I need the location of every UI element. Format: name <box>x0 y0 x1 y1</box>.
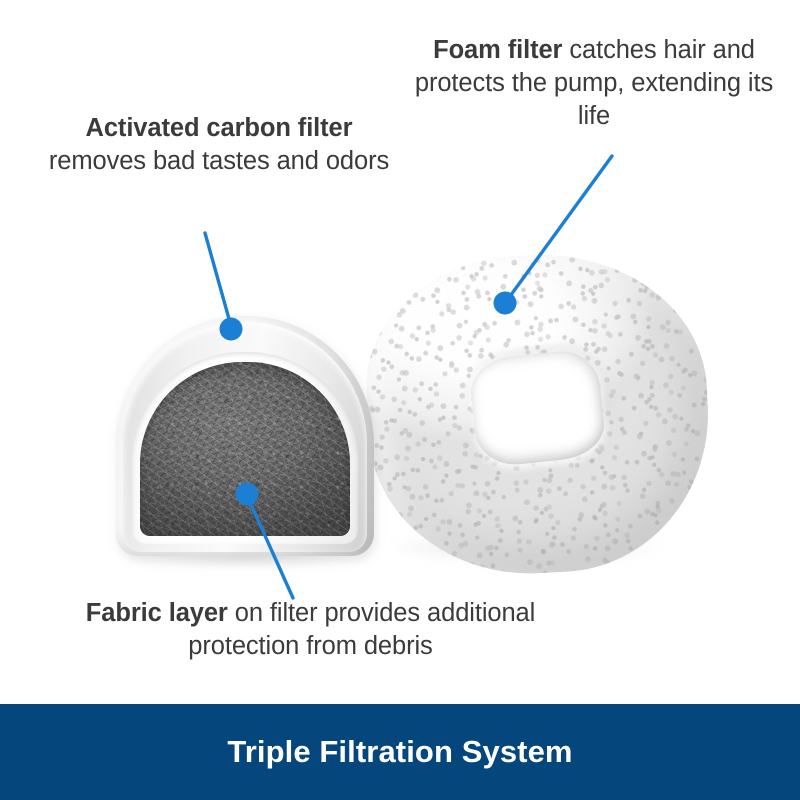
bottom-banner: Triple Filtration System <box>0 704 800 800</box>
carbon-filter-core <box>140 362 350 536</box>
callout-foam-filter: Foam filter catches hair and protects th… <box>404 34 784 133</box>
infographic-canvas: Activated carbon filter removes bad tast… <box>0 0 800 800</box>
foam-filter-center-hole <box>468 347 608 468</box>
banner-title: Triple Filtration System <box>227 734 572 770</box>
callout-fabric-lead: Fabric layer <box>86 599 228 627</box>
foam-filter-image <box>368 255 708 573</box>
product-image-area <box>0 230 800 590</box>
callout-carbon-lead: Activated carbon filter <box>86 114 353 142</box>
callout-activated-carbon-filter: Activated carbon filter removes bad tast… <box>34 112 404 178</box>
carbon-filter-image <box>116 316 374 556</box>
callout-carbon-body: removes bad tastes and odors <box>49 147 389 175</box>
carbon-core-shading <box>140 362 350 536</box>
callout-fabric-layer: Fabric layer on filter provides addition… <box>48 597 573 663</box>
callout-foam-lead: Foam filter <box>433 36 562 64</box>
callout-fabric-body: on filter provides additional protection… <box>188 599 535 660</box>
